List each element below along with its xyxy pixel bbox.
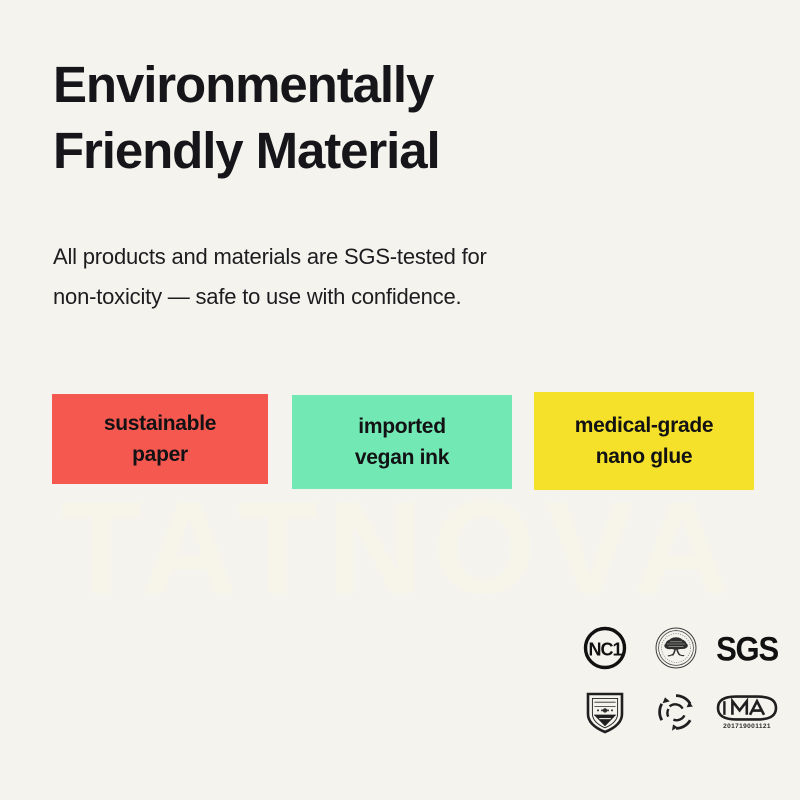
chip-label-line-1: imported — [358, 411, 445, 442]
infographic-page: TATNOVA Environmentally Friendly Materia… — [0, 0, 800, 800]
recycle-icon — [643, 682, 708, 742]
chip-label-line-2: paper — [132, 439, 188, 470]
cma-icon: 201719001121 — [714, 682, 780, 742]
chip-label-line-2: vegan ink — [355, 442, 449, 473]
certification-logo-grid: NC1 — [572, 618, 780, 742]
material-chip-imported-vegan-ink: imported vegan ink — [292, 395, 512, 489]
material-chip-sustainable-paper: sustainable paper — [52, 394, 268, 484]
material-chip-medical-grade-nano-glue: medical-grade nano glue — [534, 392, 754, 490]
page-subtitle: All products and materials are SGS-teste… — [53, 237, 653, 317]
page-subtitle-line-1: All products and materials are SGS-teste… — [53, 237, 653, 277]
sgs-wordmark: SGS — [716, 631, 778, 666]
tree-badge-icon — [643, 618, 708, 678]
chip-label-line-1: sustainable — [104, 408, 216, 439]
shield-badge-icon — [572, 682, 637, 742]
page-title-line-2: Friendly Material — [53, 118, 673, 184]
cma-certificate-number: 201719001121 — [723, 724, 771, 731]
nc1-icon: NC1 — [572, 618, 637, 678]
page-title: Environmentally Friendly Material — [53, 52, 673, 184]
svg-text:NC1: NC1 — [588, 640, 622, 660]
page-title-line-1: Environmentally — [53, 52, 673, 118]
page-subtitle-line-2: non-toxicity — safe to use with confiden… — [53, 277, 653, 317]
sgs-icon: SGS — [714, 618, 780, 678]
brand-watermark: TATNOVA — [0, 482, 800, 612]
chip-label-line-2: nano glue — [596, 441, 692, 472]
material-chip-group: sustainable paper imported vegan ink med… — [52, 392, 754, 492]
chip-label-line-1: medical-grade — [575, 410, 714, 441]
